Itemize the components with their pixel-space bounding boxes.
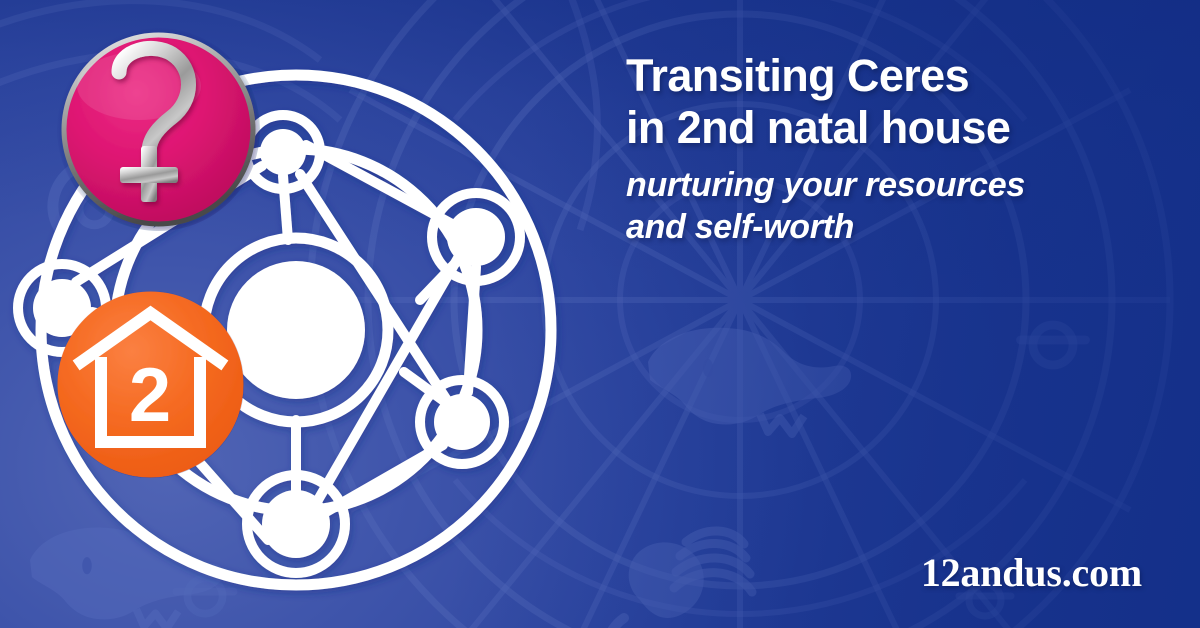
- subhead-line-2: and self-worth: [626, 207, 1172, 249]
- text-block: Transiting Ceres in 2nd natal house nurt…: [626, 50, 1172, 249]
- page-title: Transiting Ceres in 2nd natal house: [626, 50, 1172, 154]
- brand-url[interactable]: 12andus.com: [921, 549, 1142, 596]
- subhead-line-1: nurturing your resources: [626, 165, 1172, 207]
- ceres-badge[interactable]: [57, 28, 260, 231]
- center-hub-disc: [227, 261, 365, 399]
- house-badge[interactable]: 2: [57, 291, 244, 478]
- promo-card: 2 Transiting Ceres in 2nd natal house nu…: [0, 0, 1200, 628]
- headline-line-1: Transiting Ceres: [626, 50, 1172, 102]
- page-subtitle: nurturing your resources and self-worth: [626, 165, 1172, 249]
- headline-line-2: in 2nd natal house: [626, 102, 1172, 154]
- house-number: 2: [129, 353, 171, 438]
